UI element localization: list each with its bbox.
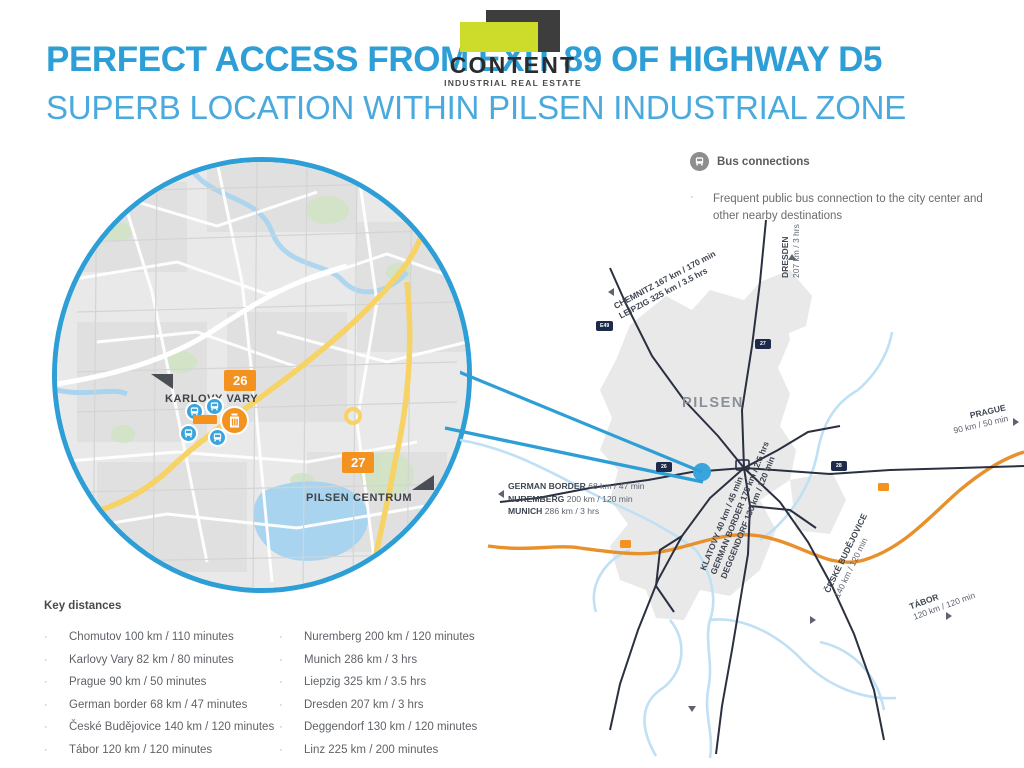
page-title-line2: SUPERB LOCATION WITHIN PILSEN INDUSTRIAL… — [46, 89, 906, 127]
logo-yellow-bar — [460, 22, 538, 52]
site-footprint — [193, 415, 217, 424]
map-label-pilsen-centrum: PILSEN CENTRUM — [306, 492, 412, 504]
distance-liepzig: Liepzig 325 km / 3.5 hrs — [304, 676, 426, 688]
map-label-pilsen: PILSEN — [682, 395, 744, 411]
route-dresden-value: 207 km / 3 hrs — [791, 224, 802, 278]
bullet: · — [690, 191, 713, 225]
key-distances-columns: · Chomutov 100 km / 110 minutes · Karlov… — [44, 631, 514, 766]
list-item: · České Budějovice 140 km / 120 minutes — [44, 721, 279, 733]
bus-connections-title: Bus connections — [717, 156, 810, 168]
bullet: · — [44, 721, 69, 733]
bus-connections-header: Bus connections — [690, 152, 1000, 171]
road-shield-27: 27 — [755, 339, 771, 349]
arrow-dresden-icon — [788, 254, 796, 260]
arrow-klatovy-icon — [688, 706, 696, 712]
callout-munich-name: MUNICH — [508, 506, 542, 516]
bullet: · — [279, 699, 304, 711]
key-distances-column-left: · Chomutov 100 km / 110 minutes · Karlov… — [44, 631, 279, 766]
region-map-graphic — [460, 150, 1024, 760]
bullet: · — [44, 699, 69, 711]
distance-ceske-budejovice: České Budějovice 140 km / 120 minutes — [69, 721, 274, 733]
distance-munich: Munich 286 km / 3 hrs — [304, 654, 417, 666]
bus-stop-icon — [183, 428, 194, 439]
distance-tabor: Tábor 120 km / 120 minutes — [69, 744, 212, 756]
detail-map-graphic — [57, 162, 467, 588]
callout-german-border-value: 68 km / 47 min — [588, 481, 644, 491]
distance-chomutov: Chomutov 100 km / 110 minutes — [69, 631, 234, 643]
distance-deggendorf: Deggendorf 130 km / 120 minutes — [304, 721, 477, 733]
logo-mark-icon — [438, 8, 588, 52]
list-item: · Karlovy Vary 82 km / 80 minutes — [44, 654, 279, 666]
bullet: · — [44, 676, 69, 688]
distance-dresden: Dresden 207 km / 3 hrs — [304, 699, 424, 711]
callout-nuremberg-name: NUREMBERG — [508, 494, 564, 504]
bullet: · — [44, 654, 69, 666]
content-logo: CONTENT INDUSTRIAL REAL ESTATE — [438, 8, 588, 94]
callout-nuremberg-value: 200 km / 120 min — [567, 494, 633, 504]
logo-tagline: INDUSTRIAL REAL ESTATE — [438, 78, 588, 88]
distance-nuremberg: Nuremberg 200 km / 120 minutes — [304, 631, 475, 643]
arrow-tabor-icon — [946, 612, 952, 620]
bus-connections-panel: Bus connections · Frequent public bus co… — [690, 152, 1000, 225]
list-item: · Nuremberg 200 km / 120 minutes — [279, 631, 514, 643]
logo-wordmark: CONTENT — [438, 52, 588, 79]
distance-karlovy-vary: Karlovy Vary 82 km / 80 minutes — [69, 654, 234, 666]
bus-stop-icon — [209, 401, 220, 412]
bullet: · — [279, 654, 304, 666]
road-shield-26: 26 — [656, 462, 672, 472]
bullet: · — [44, 631, 69, 643]
callout-german-border-name: GERMAN BORDER — [508, 481, 586, 491]
region-map[interactable]: PILSEN E49 27 26 28 CHEMNITZ 167 km / 17… — [460, 150, 1024, 760]
exit-badge-26[interactable]: 26 — [224, 370, 256, 391]
detail-map-circle[interactable]: KARLOVY VARY PILSEN CENTRUM GERMAN BORDE… — [52, 157, 472, 593]
bullet: · — [44, 744, 69, 756]
distance-linz: Linz 225 km / 200 minutes — [304, 744, 438, 756]
key-distances-title: Key distances — [44, 600, 514, 612]
list-item: · Deggendorf 130 km / 120 minutes — [279, 721, 514, 733]
bullet: · — [279, 631, 304, 643]
key-distances-column-right: · Nuremberg 200 km / 120 minutes · Munic… — [279, 631, 514, 766]
list-item: · Prague 90 km / 50 minutes — [44, 676, 279, 688]
bus-icon — [690, 152, 709, 171]
header: PERFECT ACCESS FROM EXIT 89 OF HIGHWAY D… — [0, 0, 1024, 140]
arrow-prague-icon — [1013, 418, 1019, 426]
list-item: · Liepzig 325 km / 3.5 hrs — [279, 676, 514, 688]
callout-row-nuremberg: NUREMBERG 200 km / 120 min — [508, 493, 645, 506]
list-item: · German border 68 km / 47 minutes — [44, 699, 279, 711]
callout-row-munich: MUNICH 286 km / 3 hrs — [508, 505, 645, 518]
road-shield-e49: E49 — [596, 321, 613, 331]
bullet: · — [279, 744, 304, 756]
distance-german-border: German border 68 km / 47 minutes — [69, 699, 247, 711]
arrow-budejovice-icon — [810, 616, 816, 624]
arrow-karlovy-vary-icon — [151, 374, 173, 389]
list-item: · Linz 225 km / 200 minutes — [279, 744, 514, 756]
factory-icon — [227, 413, 242, 429]
bullet: · — [279, 676, 304, 688]
list-item: · Dresden 207 km / 3 hrs — [279, 699, 514, 711]
list-item: · Tábor 120 km / 120 minutes — [44, 744, 279, 756]
route-label-dresden: DRESDEN 207 km / 3 hrs — [780, 224, 802, 278]
bullet: · — [279, 721, 304, 733]
site-marker-pin[interactable] — [220, 406, 249, 435]
arrow-chemnitz-icon — [608, 288, 614, 296]
key-distances-panel: Key distances · Chomutov 100 km / 110 mi… — [44, 600, 514, 766]
callout-munich-value: 286 km / 3 hrs — [545, 506, 599, 516]
arrow-callout-icon — [498, 490, 504, 498]
exit-badge-27[interactable]: 27 — [342, 452, 374, 473]
slide-root: PERFECT ACCESS FROM EXIT 89 OF HIGHWAY D… — [0, 0, 1024, 768]
road-shield-28: 28 — [831, 461, 847, 471]
bus-connections-item: · Frequent public bus connection to the … — [690, 191, 1000, 225]
bus-stop-icon — [212, 432, 223, 443]
list-item: · Chomutov 100 km / 110 minutes — [44, 631, 279, 643]
bus-connections-text: Frequent public bus connection to the ci… — [713, 191, 1000, 225]
arrow-pilsen-centrum-icon — [412, 475, 434, 490]
callout-distances: GERMAN BORDER 68 km / 47 min NUREMBERG 2… — [508, 480, 645, 518]
distance-prague: Prague 90 km / 50 minutes — [69, 676, 206, 688]
list-item: · Munich 286 km / 3 hrs — [279, 654, 514, 666]
bus-stop-pin-3[interactable] — [179, 424, 198, 443]
callout-row-german-border: GERMAN BORDER 68 km / 47 min — [508, 480, 645, 493]
